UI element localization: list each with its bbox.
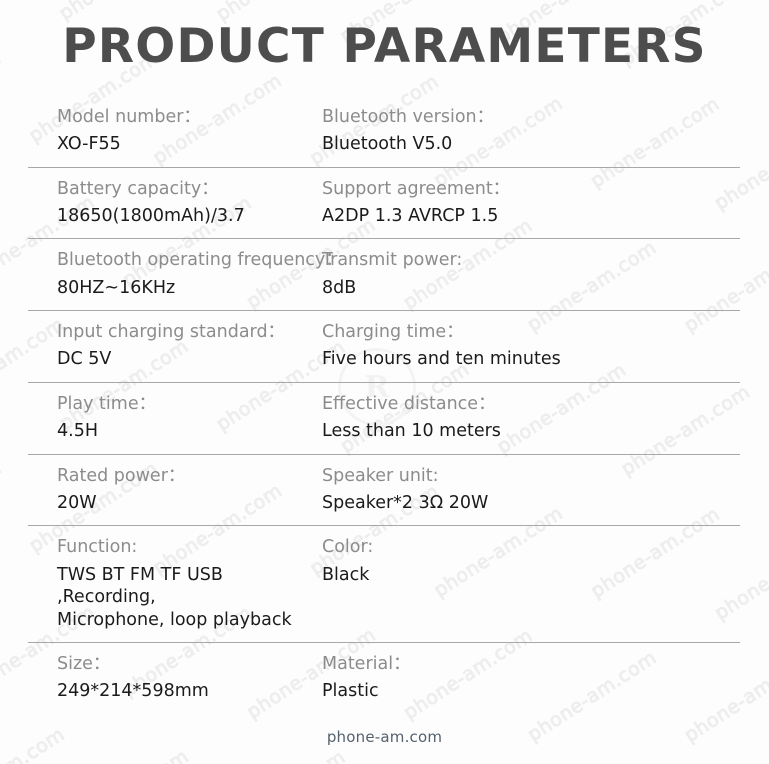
parameter-label: Battery capacity： [57, 177, 303, 202]
parameter-cell-left: Input charging standard：DC 5V [0, 320, 311, 371]
parameter-value: 4.5H [57, 420, 303, 442]
parameter-row: Model number：XO-F55Bluetooth version：Blu… [0, 95, 769, 167]
parameter-label: Rated power： [57, 464, 303, 489]
parameter-value: Less than 10 meters [322, 420, 761, 442]
parameter-value: TWS BT FM TF USB ,Recording, Microphone,… [57, 564, 303, 631]
parameter-value: 8dB [322, 277, 761, 299]
page-title: PRODUCT PARAMETERS [0, 0, 769, 77]
parameter-cell-left: Model number：XO-F55 [0, 105, 311, 156]
parameter-row: Bluetooth operating frequency：80HZ~16KHz… [0, 238, 769, 310]
parameter-row: Rated power：20WSpeaker unit:Speaker*2 3Ω… [0, 454, 769, 526]
parameter-cell-left: Bluetooth operating frequency：80HZ~16KHz [0, 248, 311, 299]
parameter-cell-right: Effective distance：Less than 10 meters [311, 392, 769, 443]
parameter-label: Input charging standard： [57, 320, 303, 345]
parameter-row: Battery capacity：18650(1800mAh)/3.7Suppo… [0, 167, 769, 239]
parameter-value: A2DP 1.3 AVRCP 1.5 [322, 205, 761, 227]
parameter-value: Five hours and ten minutes [322, 348, 761, 370]
parameter-label: Speaker unit: [322, 464, 761, 489]
parameter-row: Size：249*214*598mmMaterial：Plastic [0, 642, 769, 714]
parameter-label: Color: [322, 535, 761, 560]
parameter-label: Charging time： [322, 320, 761, 345]
parameter-value: Plastic [322, 680, 761, 702]
parameter-cell-left: Play time：4.5H [0, 392, 311, 443]
parameter-cell-left: Battery capacity：18650(1800mAh)/3.7 [0, 177, 311, 228]
parameter-cell-right: Material：Plastic [311, 652, 769, 703]
watermark-text: phone-am.com [56, 745, 193, 764]
parameter-label: Transmit power: [322, 248, 761, 273]
parameter-value: 249*214*598mm [57, 680, 303, 702]
parameter-label: Bluetooth operating frequency： [57, 248, 303, 273]
parameter-row: Input charging standard：DC 5VCharging ti… [0, 310, 769, 382]
parameter-row: Play time：4.5HEffective distance：Less th… [0, 382, 769, 454]
parameter-cell-left: Size：249*214*598mm [0, 652, 311, 703]
parameter-label: Size： [57, 652, 303, 677]
parameter-cell-right: Charging time：Five hours and ten minutes [311, 320, 769, 371]
parameter-cell-left: Function:TWS BT FM TF USB ,Recording, Mi… [0, 535, 311, 631]
watermark-text: phone-am.com [213, 746, 350, 764]
parameter-cell-right: Transmit power:8dB [311, 248, 769, 299]
parameter-cell-right: Support agreement：A2DP 1.3 AVRCP 1.5 [311, 177, 769, 228]
parameter-value: 20W [57, 492, 303, 514]
parameter-value: Speaker*2 3Ω 20W [322, 492, 761, 514]
parameter-value: 80HZ~16KHz [57, 277, 303, 299]
parameter-label: Effective distance： [322, 392, 761, 417]
parameter-cell-right: Speaker unit:Speaker*2 3Ω 20W [311, 464, 769, 515]
parameter-label: Bluetooth version： [322, 105, 761, 130]
parameter-cell-right: Color:Black [311, 535, 769, 631]
parameter-value: Bluetooth V5.0 [322, 133, 761, 155]
parameters-table: Model number：XO-F55Bluetooth version：Blu… [0, 95, 769, 714]
parameter-label: Material： [322, 652, 761, 677]
parameter-label: Model number： [57, 105, 303, 130]
parameter-cell-left: Rated power：20W [0, 464, 311, 515]
parameter-cell-right: Bluetooth version：Bluetooth V5.0 [311, 105, 769, 156]
parameter-value: XO-F55 [57, 133, 303, 155]
parameter-value: 18650(1800mAh)/3.7 [57, 205, 303, 227]
footer-site-label: phone-am.com [0, 728, 769, 746]
parameter-value: Black [322, 564, 761, 586]
parameter-label: Support agreement： [322, 177, 761, 202]
parameter-label: Function: [57, 535, 303, 560]
parameter-label: Play time： [57, 392, 303, 417]
product-parameters-sheet: phone-am.comphone-am.comphone-am.comphon… [0, 0, 769, 764]
parameter-value: DC 5V [57, 348, 303, 370]
parameter-row: Function:TWS BT FM TF USB ,Recording, Mi… [0, 525, 769, 642]
